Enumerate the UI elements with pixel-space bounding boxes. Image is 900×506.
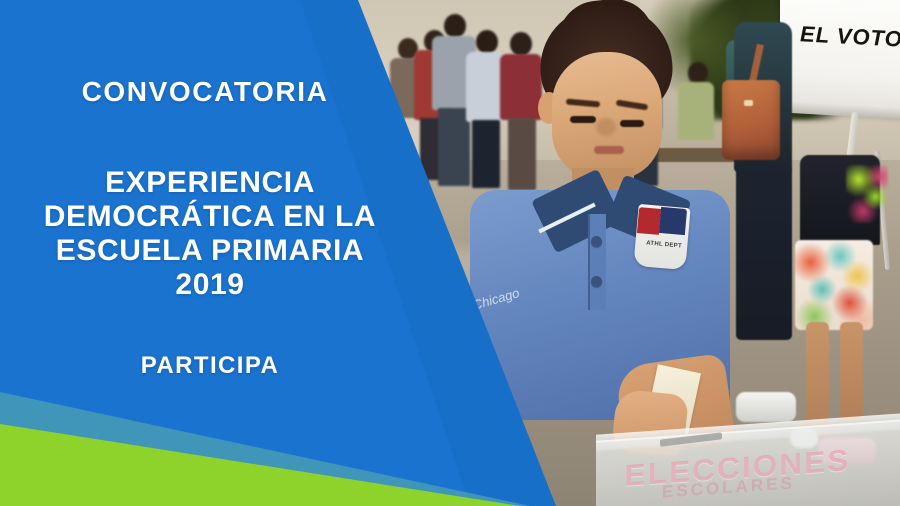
page-title: EXPERIENCIA DEMOCRÁTICA EN LA ESCUELA PR… <box>0 166 420 302</box>
title-line-1: EXPERIENCIA <box>0 166 420 200</box>
kicker-text: CONVOCATORIA <box>0 76 410 108</box>
text-layer: CONVOCATORIA EXPERIENCIA DEMOCRÁTICA EN … <box>0 0 900 506</box>
poster: EL VOTO <box>0 0 900 506</box>
title-line-3: ESCUELA PRIMARIA <box>0 234 420 268</box>
call-to-action-text: PARTICIPA <box>0 352 420 380</box>
title-line-4: 2019 <box>0 268 420 302</box>
title-line-2: DEMOCRÁTICA EN LA <box>0 200 420 234</box>
